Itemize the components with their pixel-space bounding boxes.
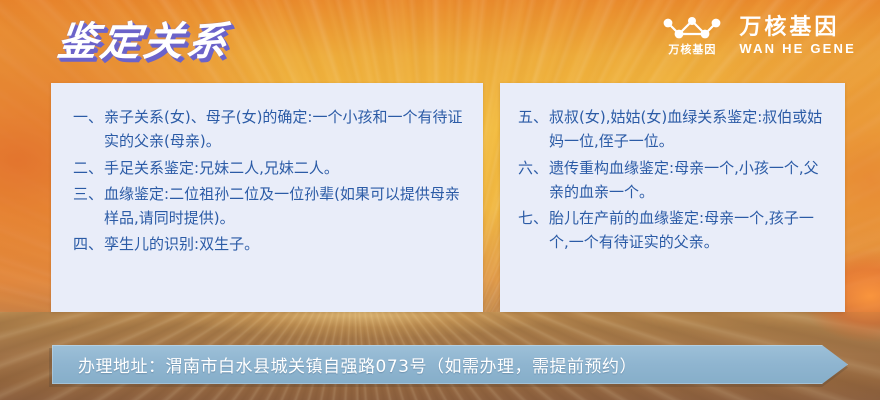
brand-name-cn: 万核基因: [739, 16, 856, 38]
relations-panel-left: 一、 亲子关系(女)、母子(女)的确定:一个小孩和一个有待证实的父亲(母亲)。 …: [51, 83, 483, 312]
brand-wordmark: 万核基因 WAN HE GENE: [739, 16, 856, 55]
list-item: 六、 遗传重构血缘鉴定:母亲一个,小孩一个,父亲的血亲一个。: [518, 156, 829, 205]
list-item: 三、 血缘鉴定:二位祖孙二位及一位孙辈(如果可以提供母亲样品,请同时提供)。: [73, 182, 469, 231]
list-item-text: 孪生儿的识别:双生子。: [104, 232, 469, 256]
page-title: 鉴定关系: [54, 9, 233, 67]
brand-logo: 万核基因 万核基因 WAN HE GENE: [661, 14, 856, 56]
relations-list-left: 一、 亲子关系(女)、母子(女)的确定:一个小孩和一个有待证实的父亲(母亲)。 …: [51, 83, 483, 257]
brand-mark: 万核基因: [661, 14, 723, 56]
list-item-number: 四、: [73, 232, 104, 256]
list-item-text: 叔叔(女),姑姑(女)血绿关系鉴定:叔伯或姑妈一位,侄子一位。: [549, 105, 829, 154]
list-item: 二、 手足关系鉴定:兄妹二人,兄妹二人。: [73, 156, 469, 180]
molecule-icon: [661, 14, 723, 42]
relations-panel-right: 五、 叔叔(女),姑姑(女)血绿关系鉴定:叔伯或姑妈一位,侄子一位。 六、 遗传…: [500, 83, 845, 312]
list-item-number: 一、: [73, 105, 104, 129]
list-item-number: 三、: [73, 182, 104, 206]
list-item-text: 血缘鉴定:二位祖孙二位及一位孙辈(如果可以提供母亲样品,请同时提供)。: [104, 182, 469, 231]
list-item: 一、 亲子关系(女)、母子(女)的确定:一个小孩和一个有待证实的父亲(母亲)。: [73, 105, 469, 154]
poster-root: 鉴定关系: [0, 0, 880, 400]
relations-list-right: 五、 叔叔(女),姑姑(女)血绿关系鉴定:叔伯或姑妈一位,侄子一位。 六、 遗传…: [500, 83, 845, 255]
list-item-number: 六、: [518, 156, 549, 180]
header: 鉴定关系: [0, 0, 880, 83]
list-item-number: 二、: [73, 156, 104, 180]
list-item-text: 手足关系鉴定:兄妹二人,兄妹二人。: [104, 156, 469, 180]
list-item-number: 五、: [518, 105, 549, 129]
list-item-number: 七、: [518, 206, 549, 230]
list-item-text: 亲子关系(女)、母子(女)的确定:一个小孩和一个有待证实的父亲(母亲)。: [104, 105, 469, 154]
list-item-text: 遗传重构血缘鉴定:母亲一个,小孩一个,父亲的血亲一个。: [549, 156, 829, 205]
brand-name-en: WAN HE GENE: [739, 42, 856, 55]
list-item-text: 胎儿在产前的血缘鉴定:母亲一个,孩子一个,一个有待证实的父亲。: [549, 206, 829, 255]
address-ribbon: 办理地址：渭南市白水县城关镇自强路073号（如需办理，需提前预约）: [52, 345, 848, 384]
brand-mark-label: 万核基因: [668, 45, 716, 56]
list-item: 五、 叔叔(女),姑姑(女)血绿关系鉴定:叔伯或姑妈一位,侄子一位。: [518, 105, 829, 154]
address-text: 办理地址：渭南市白水县城关镇自强路073号（如需办理，需提前预约）: [52, 345, 848, 384]
list-item: 四、 孪生儿的识别:双生子。: [73, 232, 469, 256]
list-item: 七、 胎儿在产前的血缘鉴定:母亲一个,孩子一个,一个有待证实的父亲。: [518, 206, 829, 255]
